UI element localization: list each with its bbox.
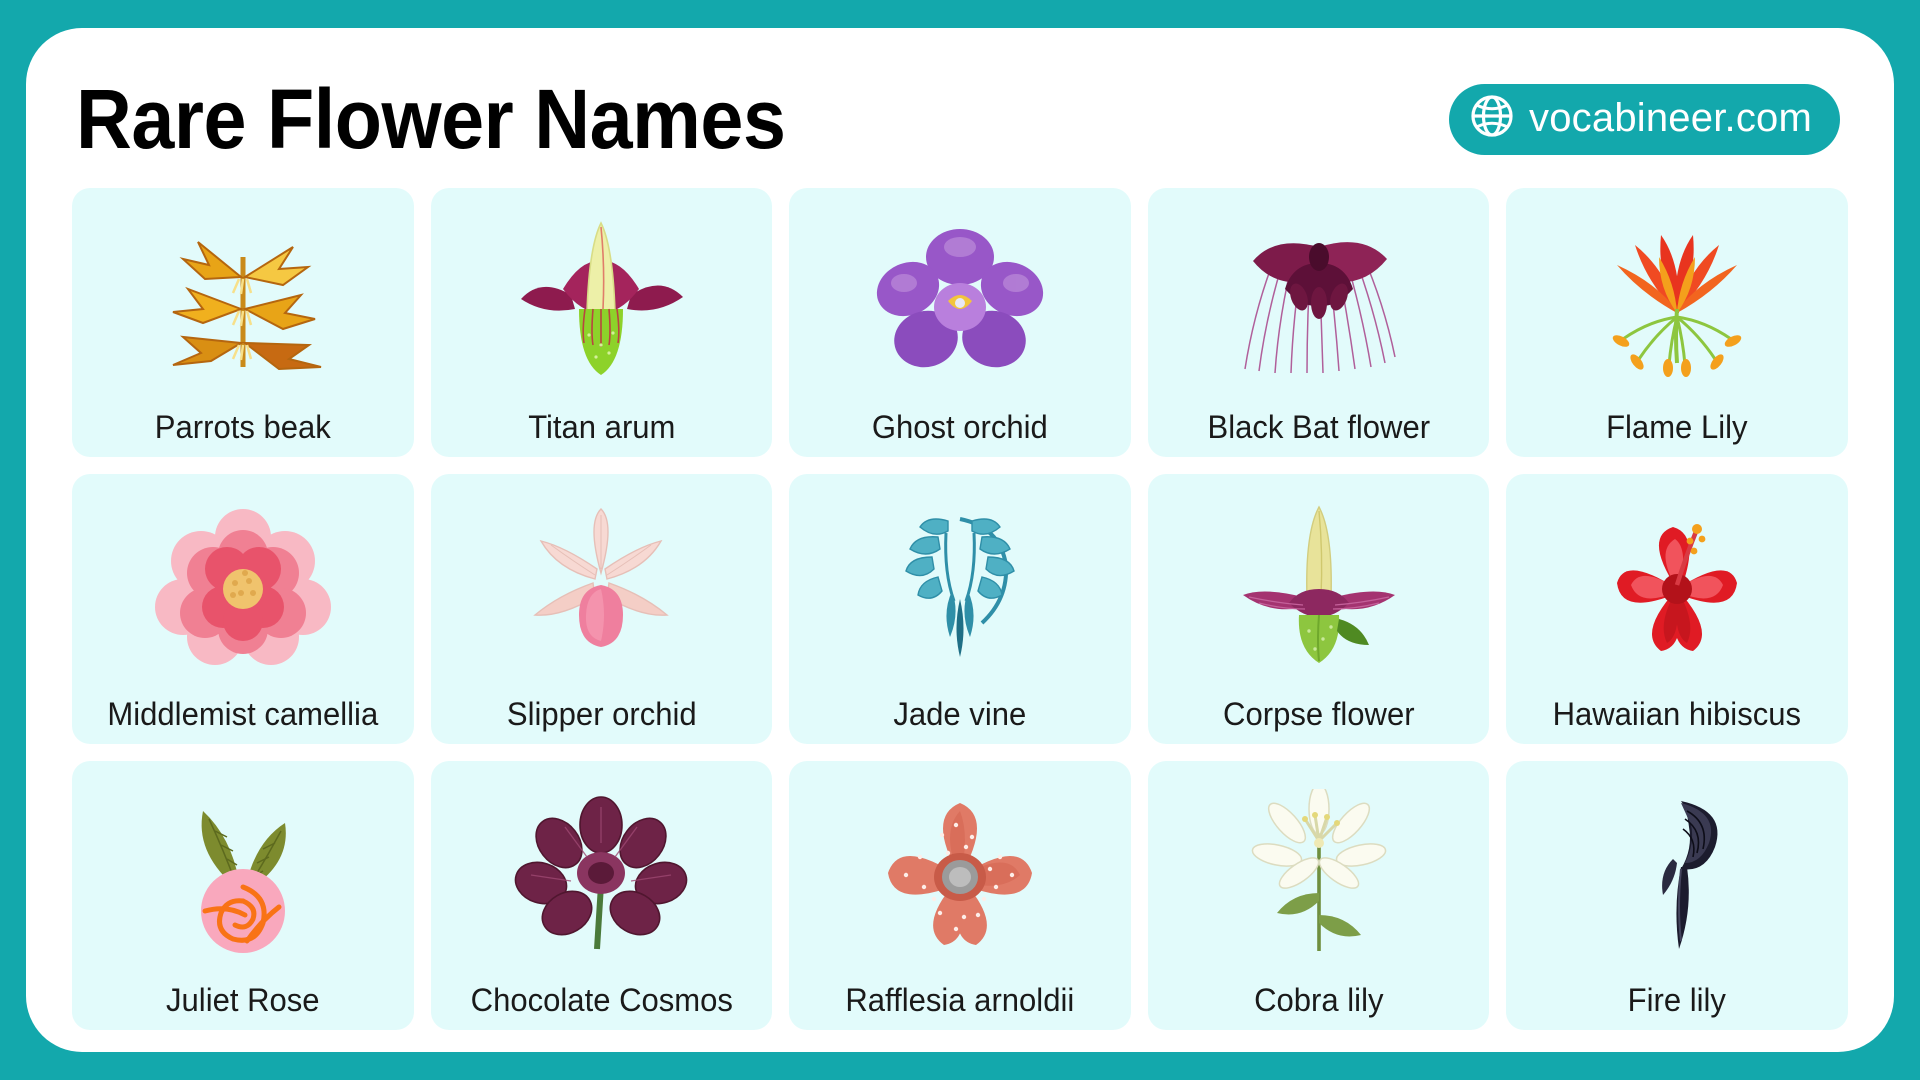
flower-card[interactable]: Rafflesia arnoldii (789, 761, 1131, 1030)
poster-frame: Rare Flower Names vocabineer.com (0, 0, 1920, 1080)
flower-label: Rafflesia arnoldii (794, 978, 1125, 1030)
flower-label: Fire lily (1512, 978, 1843, 1030)
brand-badge[interactable]: vocabineer.com (1449, 84, 1840, 155)
flower-label: Ghost orchid (794, 405, 1125, 457)
parrots-beak-flower-icon (72, 188, 414, 405)
page-title: Rare Flower Names (76, 77, 785, 161)
flower-card[interactable]: Titan arum (431, 188, 773, 457)
flower-card[interactable]: Jade vine (789, 474, 1131, 743)
flower-label: Parrots beak (77, 405, 408, 457)
flower-label: Titan arum (436, 405, 767, 457)
globe-icon (1469, 93, 1515, 144)
flower-card[interactable]: Middlemist camellia (72, 474, 414, 743)
flower-label: Juliet Rose (77, 978, 408, 1030)
titan-arum-flower-icon (431, 188, 773, 405)
slipper-orchid-flower-icon (431, 474, 773, 691)
juliet-rose-flower-icon (72, 761, 414, 978)
black-bat-flower-icon (1148, 188, 1490, 405)
flower-card[interactable]: Black Bat flower (1148, 188, 1490, 457)
hawaiian-hibiscus-icon (1506, 474, 1848, 691)
cobra-lily-flower-icon (1148, 761, 1490, 978)
flower-label: Flame Lily (1512, 405, 1843, 457)
brand-text: vocabineer.com (1529, 98, 1812, 138)
chocolate-cosmos-flower-icon (431, 761, 773, 978)
flower-card[interactable]: Slipper orchid (431, 474, 773, 743)
flower-card[interactable]: Ghost orchid (789, 188, 1131, 457)
flower-card[interactable]: Chocolate Cosmos (431, 761, 773, 1030)
poster-panel: Rare Flower Names vocabineer.com (26, 28, 1894, 1052)
flower-label: Chocolate Cosmos (436, 978, 767, 1030)
flower-label: Slipper orchid (436, 692, 767, 744)
corpse-flower-icon (1148, 474, 1490, 691)
jade-vine-flower-icon (789, 474, 1131, 691)
fire-lily-flower-icon (1506, 761, 1848, 978)
flower-grid: Parrots beak (72, 184, 1848, 1030)
flower-label: Corpse flower (1153, 692, 1484, 744)
flower-card[interactable]: Juliet Rose (72, 761, 414, 1030)
flower-label: Hawaiian hibiscus (1512, 692, 1843, 744)
flower-label: Cobra lily (1153, 978, 1484, 1030)
rafflesia-arnoldii-icon (789, 761, 1131, 978)
flower-card[interactable]: Fire lily (1506, 761, 1848, 1030)
flower-card[interactable]: Corpse flower (1148, 474, 1490, 743)
flame-lily-flower-icon (1506, 188, 1848, 405)
flower-card[interactable]: Hawaiian hibiscus (1506, 474, 1848, 743)
flower-card[interactable]: Cobra lily (1148, 761, 1490, 1030)
flower-label: Jade vine (794, 692, 1125, 744)
flower-label: Black Bat flower (1153, 405, 1484, 457)
middlemist-camellia-icon (72, 474, 414, 691)
header: Rare Flower Names vocabineer.com (72, 54, 1848, 184)
flower-label: Middlemist camellia (77, 692, 408, 744)
flower-card[interactable]: Flame Lily (1506, 188, 1848, 457)
flower-card[interactable]: Parrots beak (72, 188, 414, 457)
ghost-orchid-flower-icon (789, 188, 1131, 405)
